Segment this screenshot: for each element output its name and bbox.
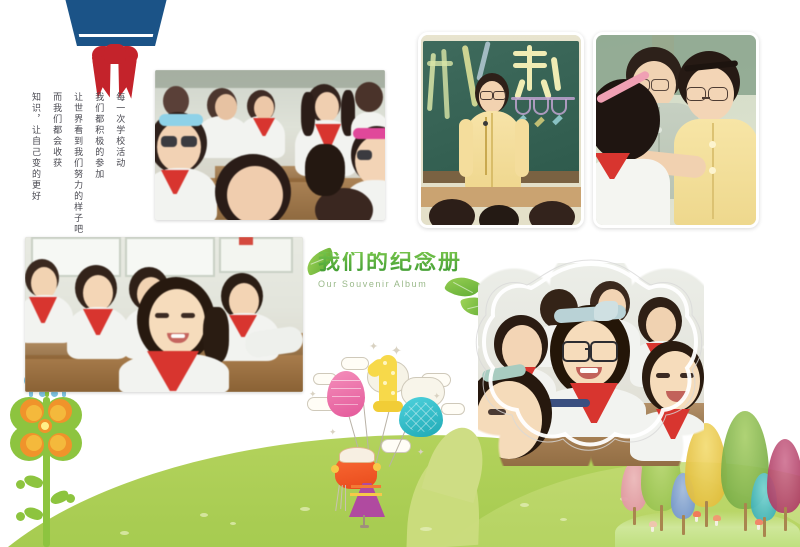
- caption-line: 我们都积极的参加: [91, 92, 104, 180]
- sparkle-icon: ✦: [369, 341, 378, 352]
- logo-title: 我们的纪念册: [318, 252, 488, 274]
- crimson-tree: [767, 439, 800, 529]
- medal-outline: [65, 0, 167, 37]
- red-ribbon-icon: [92, 44, 138, 99]
- girl-with-balloons: ✦ ✦ ✦ ✦ ✦ ✦ ✦: [305, 335, 475, 505]
- sparkle-icon: ✦: [329, 429, 337, 438]
- award-medal: [55, 0, 177, 46]
- photo-students-smiling[interactable]: [25, 237, 303, 392]
- album-page: 每一次学校活动 我们都积极的参加 让世界看到我们努力的样子吧 而我们都会收获 知…: [0, 0, 800, 547]
- hat-icon: [339, 447, 375, 463]
- logo-subtitle: Our Souvenir Album: [318, 279, 488, 289]
- vertical-caption: 每一次学校活动 我们都积极的参加 让世界看到我们努力的样子吧 而我们都会收获 知…: [28, 92, 125, 220]
- caption-line: 每一次学校活动: [112, 92, 125, 169]
- cloud-icon: [441, 403, 465, 415]
- caption-line: 而我们都会收获: [49, 92, 62, 169]
- photo-girl-laughing[interactable]: [478, 263, 704, 466]
- photo-classroom-students[interactable]: [155, 70, 385, 220]
- photo-teacher-speaking[interactable]: [418, 32, 584, 228]
- teal-balloon: [399, 397, 443, 437]
- number-one-balloon: [367, 353, 409, 409]
- sparkle-icon: ✦: [417, 449, 425, 458]
- flower-bloom: [10, 393, 82, 461]
- decorative-flower: [10, 387, 82, 547]
- sparkle-icon: ✦: [309, 391, 317, 400]
- caption-line: 知识，让自己变的更好: [28, 92, 41, 202]
- scallop-photo-content: [478, 263, 704, 466]
- cloud-icon: [341, 357, 369, 370]
- pink-balloon: [327, 371, 365, 417]
- photo-teachers-and-student[interactable]: [593, 32, 759, 228]
- caption-line: 让世界看到我们努力的样子吧: [70, 92, 83, 235]
- album-logo: 我们的纪念册 Our Souvenir Album: [318, 252, 488, 302]
